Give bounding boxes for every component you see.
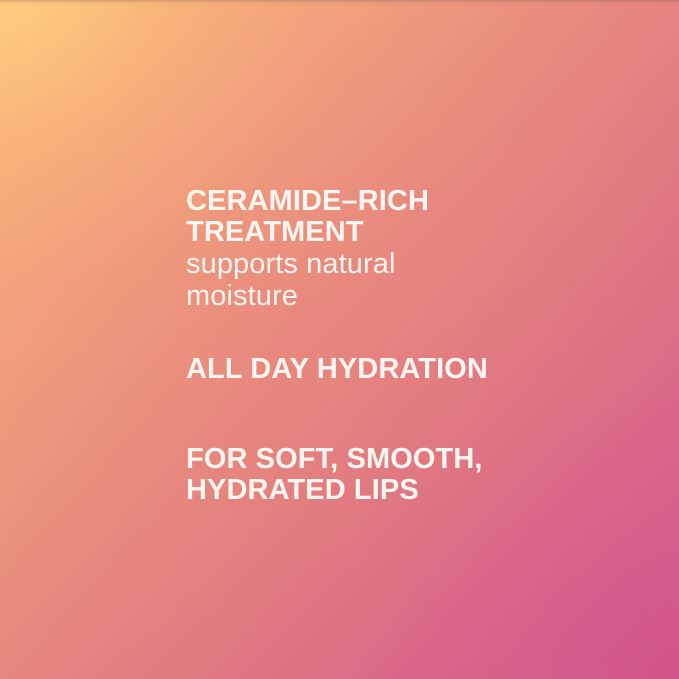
benefit-headline-soft-smooth-lips: FOR SOFT, SMOOTH, HYDRATED LIPS <box>186 444 606 507</box>
benefit-headline-ceramide-treatment: CERAMIDE–RICH TREATMENT <box>186 186 606 249</box>
benefit-copy-stack: CERAMIDE–RICH TREATMENT supports natural… <box>186 186 606 506</box>
product-benefit-graphic: CERAMIDE–RICH TREATMENT supports natural… <box>0 0 679 679</box>
benefit-block-soft-smooth-lips: FOR SOFT, SMOOTH, HYDRATED LIPS <box>186 444 606 507</box>
benefit-headline-all-day-hydration: ALL DAY HYDRATION <box>186 354 606 385</box>
benefit-block-ceramide-treatment: CERAMIDE–RICH TREATMENT supports natural… <box>186 186 606 312</box>
benefit-block-all-day-hydration: ALL DAY HYDRATION <box>186 354 606 385</box>
benefit-subline-ceramide-treatment: supports natural moisture <box>186 249 606 313</box>
